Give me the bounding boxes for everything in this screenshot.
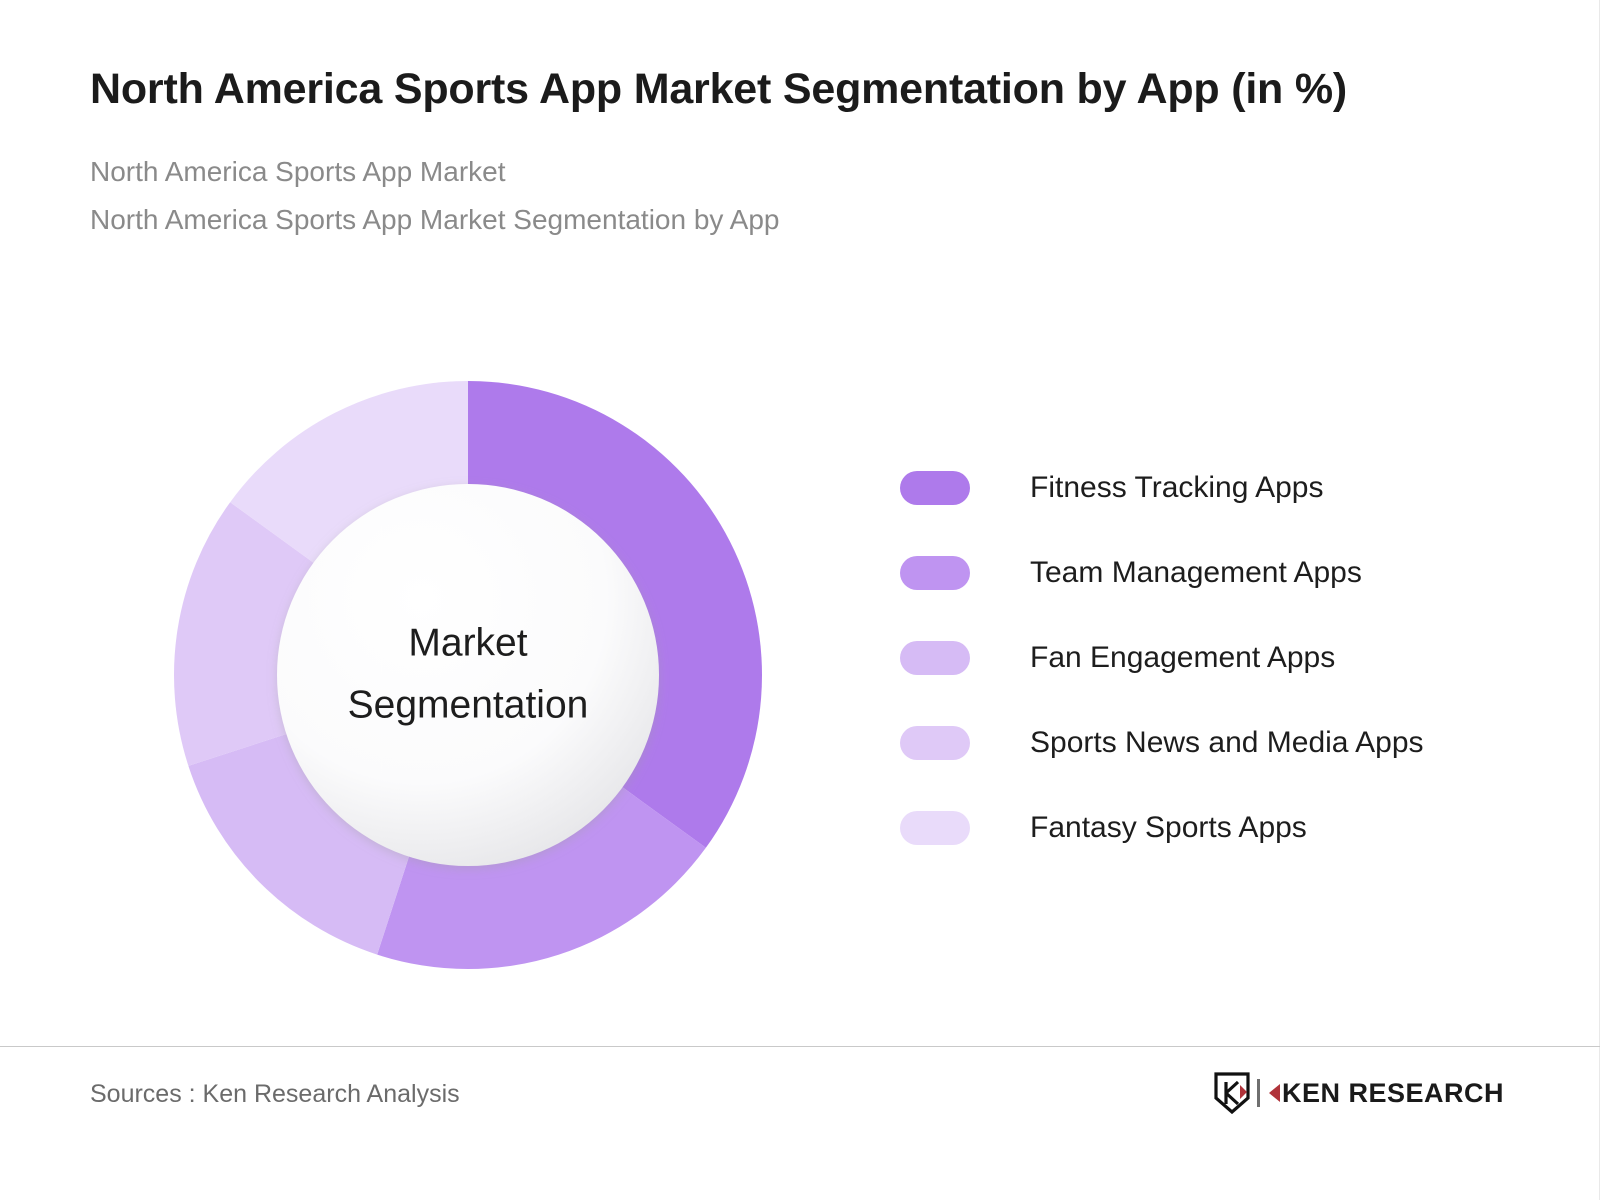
header: North America Sports App Market Segmenta… xyxy=(90,60,1490,243)
legend-label: Team Management Apps xyxy=(1030,556,1362,590)
legend-item[interactable]: Fan Engagement Apps xyxy=(900,615,1540,700)
legend-label: Sports News and Media Apps xyxy=(1030,726,1424,760)
donut-svg: Fitness Tracking Apps 35%Team Management… xyxy=(174,381,762,969)
chart-area: Fitness Tracking Apps 35%Team Management… xyxy=(0,355,1600,1015)
legend-item[interactable]: Fitness Tracking Apps xyxy=(900,445,1540,530)
logo-text: KEN RESEARCH xyxy=(1282,1078,1504,1109)
ken-research-logo: KEN RESEARCH xyxy=(1214,1070,1504,1116)
logo-caret-icon xyxy=(1269,1084,1280,1102)
subtitle-line-1: North America Sports App Market xyxy=(90,148,1490,196)
footer: Sources : Ken Research Analysis KEN RESE… xyxy=(0,1046,1600,1200)
legend-item[interactable]: Fantasy Sports Apps xyxy=(900,785,1540,870)
legend-label: Fitness Tracking Apps xyxy=(1030,471,1323,505)
legend-swatch xyxy=(900,811,970,845)
legend-swatch xyxy=(900,471,970,505)
page-title: North America Sports App Market Segmenta… xyxy=(90,60,1450,118)
shield-k-icon xyxy=(1214,1072,1250,1114)
legend-item[interactable]: Sports News and Media Apps xyxy=(900,700,1540,785)
source-text: Sources : Ken Research Analysis xyxy=(90,1080,460,1109)
legend-item[interactable]: Team Management Apps xyxy=(900,530,1540,615)
subtitle-line-2: North America Sports App Market Segmenta… xyxy=(90,196,1490,244)
donut-chart: Fitness Tracking Apps 35%Team Management… xyxy=(174,381,762,969)
logo-divider xyxy=(1257,1079,1260,1107)
legend-swatch xyxy=(900,726,970,760)
legend-swatch xyxy=(900,556,970,590)
legend-label: Fan Engagement Apps xyxy=(1030,641,1335,675)
donut-center-hole xyxy=(277,484,659,866)
legend-swatch xyxy=(900,641,970,675)
slide-canvas: North America Sports App Market Segmenta… xyxy=(0,0,1600,1200)
legend-label: Fantasy Sports Apps xyxy=(1030,811,1307,845)
chart-legend: Fitness Tracking AppsTeam Management App… xyxy=(900,445,1540,870)
subtitle-block: North America Sports App Market North Am… xyxy=(90,148,1490,243)
